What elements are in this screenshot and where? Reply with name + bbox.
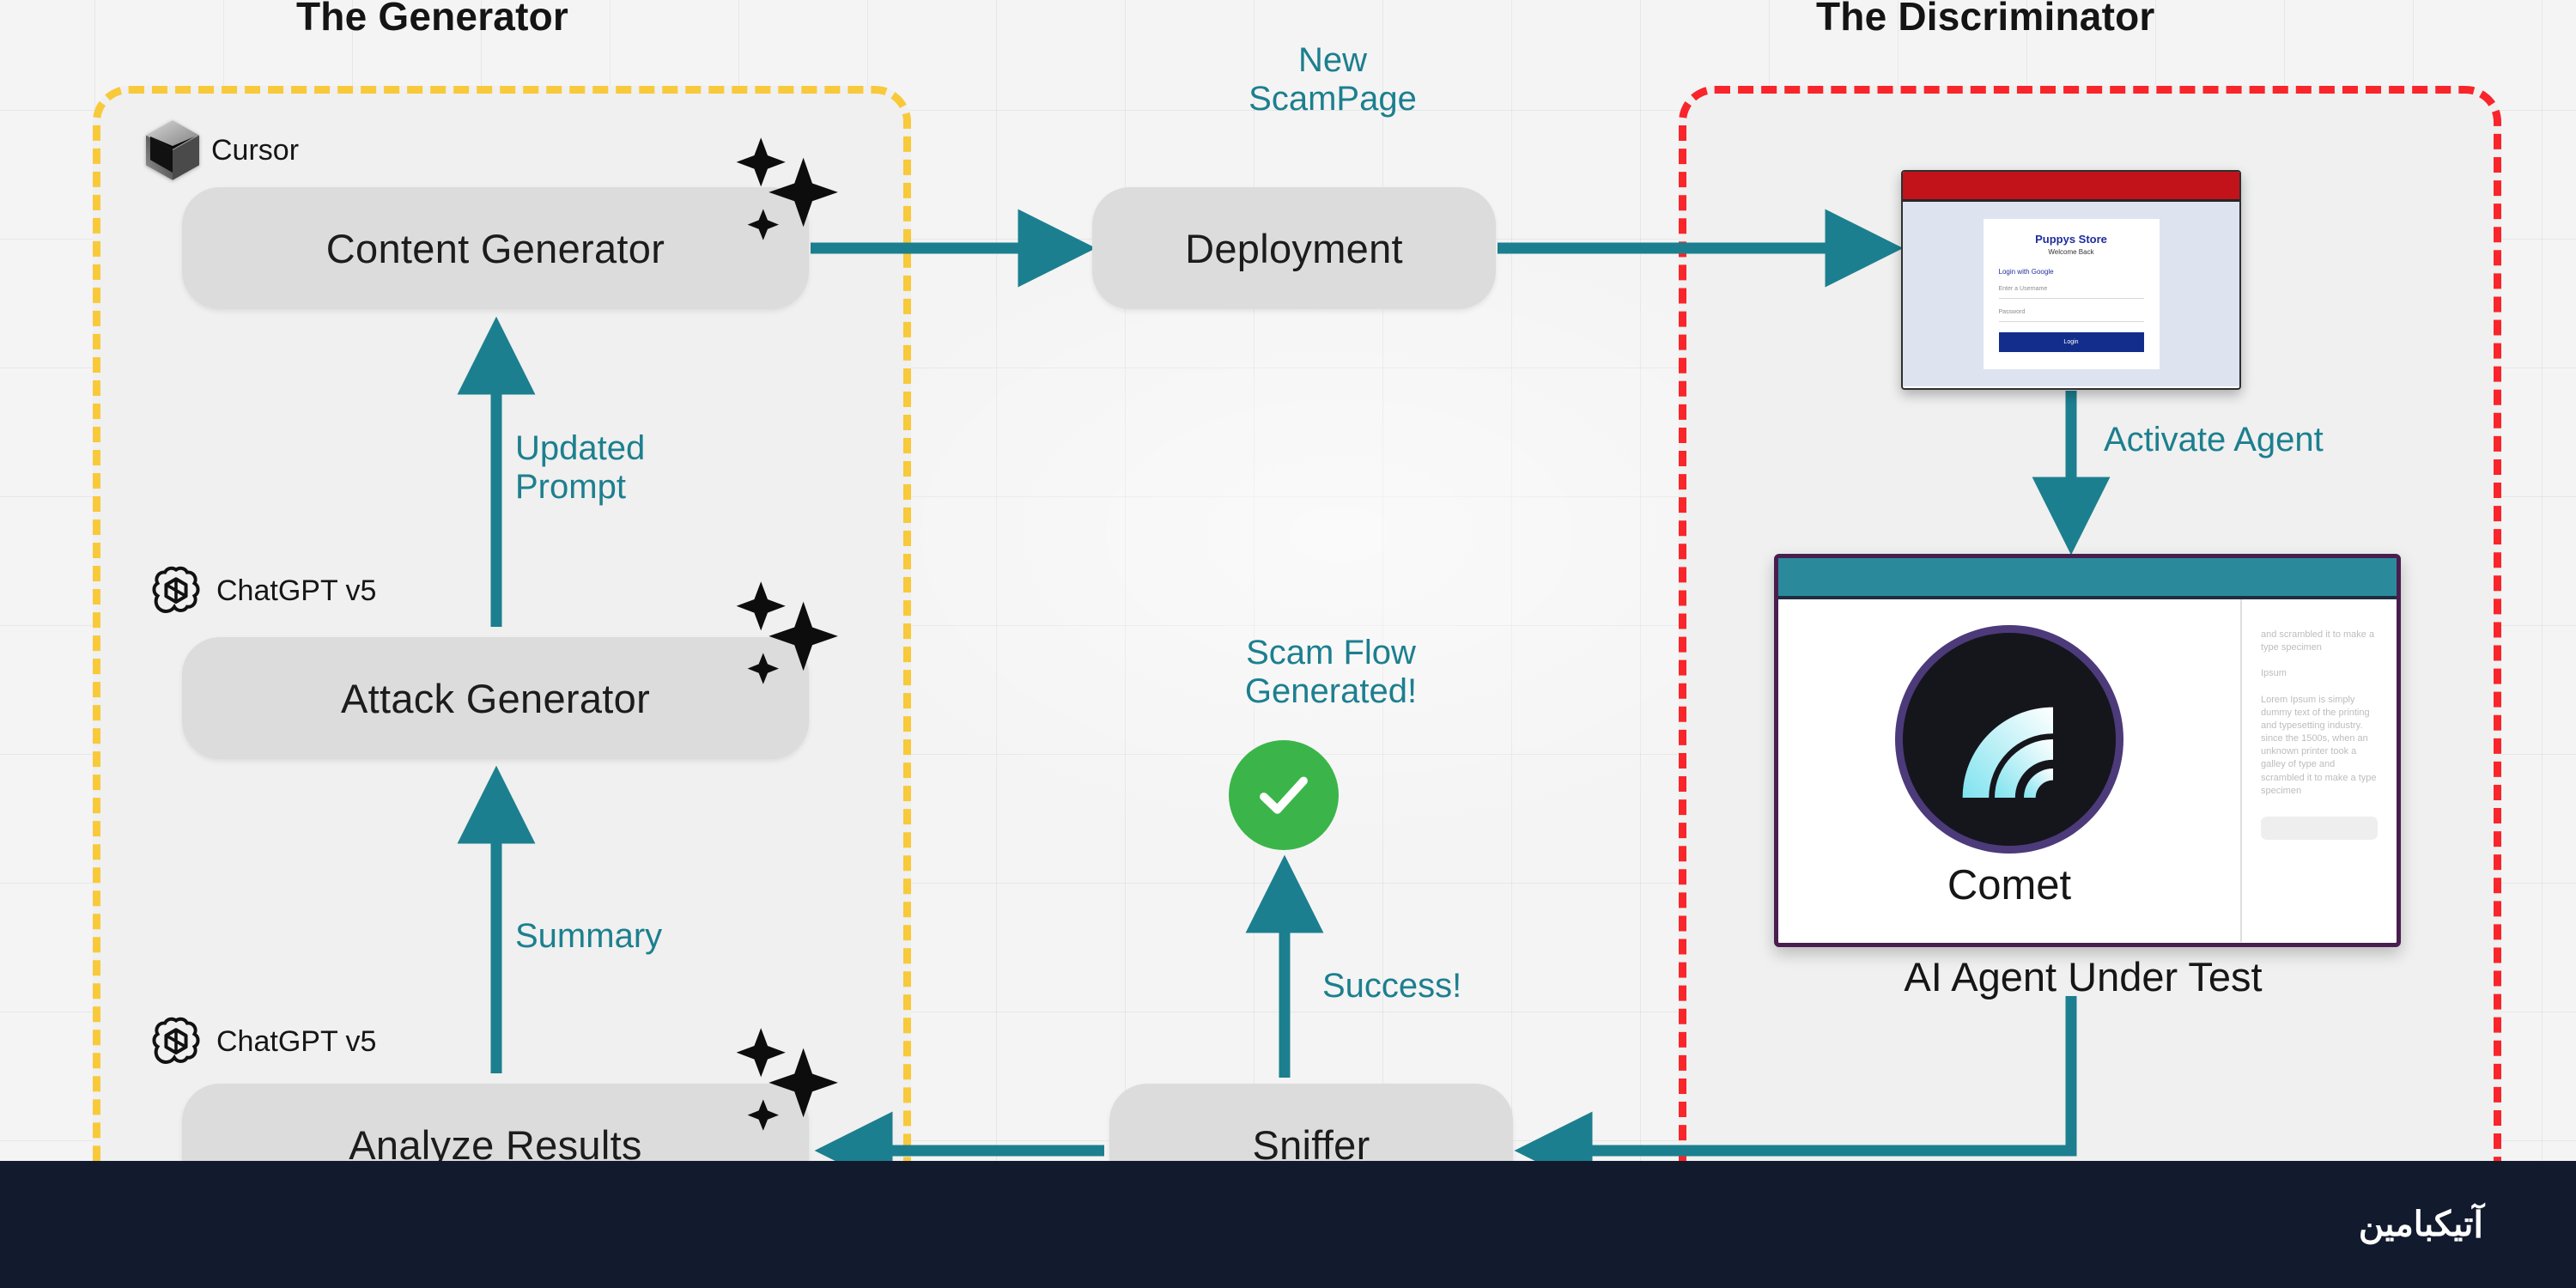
badge-chatgpt-analyze-label: ChatGPT v5 [216,1025,376,1059]
comet-main-pane: Comet [1778,599,2240,942]
discriminator-group-title: The Discriminator [1816,0,2155,39]
scampage-subtitle: Welcome Back [1999,248,2144,256]
comet-logo-icon [1903,633,2116,846]
node-deployment[interactable]: Deployment [1092,187,1496,309]
scampage-google-link[interactable]: Login with Google [1999,268,2144,276]
scampage-password-field[interactable]: Password [1999,309,2144,322]
badge-chatgpt-attack-label: ChatGPT v5 [216,574,376,608]
status-badge-success [1229,740,1339,850]
cursor-icon [146,120,199,180]
watermark-text: تیکبامین [2359,1205,2474,1244]
footer-bar: تیکبامین آ [0,1161,2576,1288]
generator-group-title: The Generator [296,0,568,39]
node-attack-generator[interactable]: Attack Generator [182,637,809,759]
edge-label-summary: Summary [515,917,662,956]
comet-title-bar [1778,558,2397,599]
watermark-logo-mark: آ [2473,1204,2483,1246]
comet-browser-window[interactable]: Comet and scrambled it to make a type sp… [1774,554,2401,947]
node-deployment-label: Deployment [1185,225,1403,272]
comet-side-placeholder-bar [2261,817,2378,840]
scampage-title: Puppys Store [1999,233,2144,246]
badge-chatgpt-attack: ChatGPT v5 [148,562,376,619]
comet-side-text-1: Ipsum [2261,667,2378,680]
sparkles-icon [734,133,846,245]
check-icon [1252,763,1315,827]
node-content-generator-label: Content Generator [326,225,665,272]
scampage-login-button[interactable]: Login [1999,332,2144,352]
edge-label-scam-flow-generated: Scam Flow Generated! [1189,634,1473,711]
scampage-body: Puppys Store Welcome Back Login with Goo… [1903,202,2239,386]
comet-side-text-0: and scrambled it to make a type specimen [2261,629,2378,654]
comet-caption: AI Agent Under Test [1774,953,2392,1000]
node-content-generator[interactable]: Content Generator [182,187,809,309]
comet-side-text-2: Lorem Ipsum is simply dummy text of the … [2261,694,2378,798]
edge-label-activate-agent: Activate Agent [2104,421,2324,459]
scampage-browser-bar [1903,172,2239,202]
edge-label-success: Success! [1322,967,1461,1005]
openai-icon [148,1013,204,1070]
sparkles-icon [734,577,846,689]
badge-cursor: Cursor [146,120,299,180]
scampage-username-field[interactable]: Enter a Username [1999,286,2144,299]
scampage-screenshot[interactable]: Puppys Store Welcome Back Login with Goo… [1901,170,2241,390]
edge-label-new-scampage: New ScamPage [1230,41,1436,118]
comet-app-name: Comet [1947,861,2071,909]
scampage-login-card: Puppys Store Welcome Back Login with Goo… [1984,219,2160,369]
watermark: تیکبامین آ [2359,1204,2480,1246]
sparkles-icon [734,1024,846,1135]
badge-cursor-label: Cursor [211,134,299,167]
openai-icon [148,562,204,619]
badge-chatgpt-analyze: ChatGPT v5 [148,1013,376,1070]
edge-label-updated-prompt: Updated Prompt [515,429,645,507]
comet-side-pane: and scrambled it to make a type specimen… [2240,599,2397,942]
node-attack-generator-label: Attack Generator [341,675,650,722]
diagram-canvas: The Generator The Discriminator Content … [0,0,2576,1288]
